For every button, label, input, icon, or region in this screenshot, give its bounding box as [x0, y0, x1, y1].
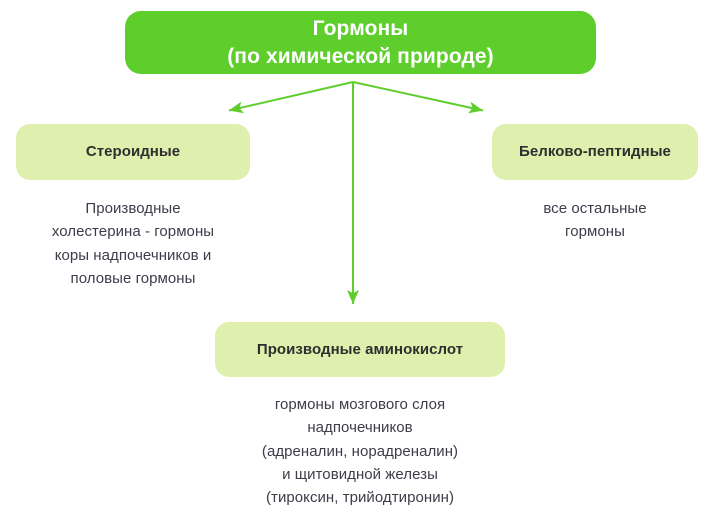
- branch-description-protein-peptide: все остальные гормоны: [492, 197, 698, 244]
- root-node-label-line2: (по химической природе): [227, 45, 494, 68]
- description-line: коры надпочечников и: [8, 244, 258, 267]
- description-line: все остальные: [492, 197, 698, 220]
- description-line: и щитовидной железы: [200, 463, 520, 486]
- description-line: гормоны мозгового слоя: [200, 393, 520, 416]
- root-node-label-line1: Гормоны: [313, 17, 409, 40]
- branch-node-protein-peptide: Белково-пептидные: [492, 124, 698, 180]
- branch-description-steroid: Производные холестерина - гормоны коры н…: [8, 197, 258, 290]
- description-line: половые гормоны: [8, 267, 258, 290]
- description-line: холестерина - гормоны: [8, 220, 258, 243]
- branch-node-protein-peptide-label: Белково-пептидные: [519, 142, 671, 162]
- root-node-hormones: Гормоны (по химической природе): [125, 11, 596, 74]
- hormones-classification-diagram: Гормоны (по химической природе) Стероидн…: [0, 0, 722, 525]
- root-node-label: Гормоны (по химической природе): [227, 15, 494, 70]
- branch-node-steroid-label: Стероидные: [86, 142, 180, 162]
- description-line: Производные: [8, 197, 258, 220]
- description-line: (адреналин, норадреналин): [200, 440, 520, 463]
- branch-description-amino-acid-derivatives: гормоны мозгового слоя надпочечников (ад…: [200, 393, 520, 509]
- description-line: (тироксин, трийодтиронин): [200, 486, 520, 509]
- branch-node-amino-acid-derivatives-label: Производные аминокислот: [257, 340, 463, 360]
- description-line: гормоны: [492, 220, 698, 243]
- arrow-to-steroid-line: [229, 82, 353, 111]
- description-line: надпочечников: [200, 416, 520, 439]
- branch-node-steroid: Стероидные: [16, 124, 250, 180]
- arrow-to-protein-line: [353, 82, 483, 111]
- branch-node-amino-acid-derivatives: Производные аминокислот: [215, 322, 505, 377]
